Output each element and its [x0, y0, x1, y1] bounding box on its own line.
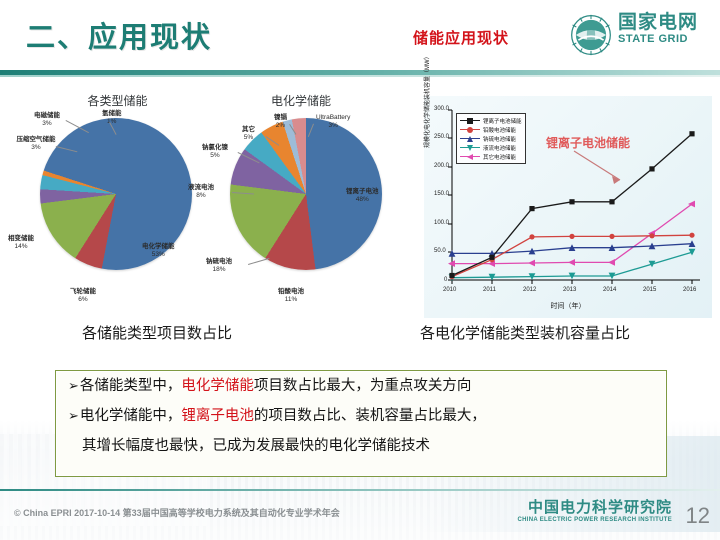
footer-divider: [0, 489, 720, 491]
pie-left-label-3: 压缩空气储能 3%: [12, 136, 60, 152]
line-chart-capacity: 规模化电化学储能装机容量（MW） 时间（年） 300.0 250.0 200.0…: [424, 96, 712, 318]
pie-right-leader-2: [248, 258, 269, 265]
legend-item-1: 铅酸电池储能: [460, 125, 522, 134]
pie-right-title: 电化学储能: [186, 92, 416, 109]
charts-region: 各类型储能 电化学储能 53% 相变储能 14% 飞轮储能 6% 压缩空气储能 …: [0, 92, 720, 322]
conclusion-item-2: 其增长幅度也最快，已成为发展最快的电化学储能技术: [56, 431, 666, 461]
bullet-icon-0: ➢: [68, 378, 79, 393]
footer-copyright: © China EPRI 2017-10-14 第33届中国高等学校电力系统及其…: [14, 506, 340, 519]
legend-swatch-triangle-down-icon: [460, 144, 480, 152]
legend-item-2: 钠硫电池储能: [460, 134, 522, 143]
header-divider-secondary: [0, 75, 720, 77]
pie-left-label-5: 氢储能 1%: [102, 110, 122, 126]
legend-swatch-triangle-up-icon: [460, 135, 480, 143]
slide-root: 二、应用现状 储能应用现状: [0, 0, 720, 540]
state-grid-logo-en: STATE GRID: [618, 33, 713, 46]
page-title: 二、应用现状: [26, 14, 212, 56]
legend-swatch-square-icon: [460, 117, 480, 125]
footer-institute-cn: 中国电力科学研究院: [518, 496, 672, 517]
pie-right-label-3: 液流电池 8%: [188, 184, 214, 200]
state-grid-logo: 国家电网 STATE GRID: [570, 12, 710, 60]
conclusion-item-1: ➢电化学储能中，锂离子电池的项目数占比、装机容量占比最大，: [56, 401, 666, 431]
pie-right-label-0: 锂离子电池 48%: [346, 188, 379, 204]
conclusion-item-0: ➢各储能类型中，电化学储能项目数占比最大，为重点攻关方向: [56, 371, 666, 401]
state-grid-globe-icon: [570, 14, 612, 56]
line-chart-legend: 锂离子电池储能 铅酸电池储能 钠硫电池储能: [456, 113, 526, 164]
bullet-icon-1: ➢: [68, 408, 79, 423]
pie-right-label-6: 镍镉 2%: [274, 114, 287, 130]
legend-item-0: 锂离子电池储能: [460, 116, 522, 125]
caption-right-chart: 各电化学储能类型装机容量占比: [420, 322, 630, 343]
pie-right-label-2: 钠硫电池 18%: [206, 258, 232, 274]
legend-item-3: 液流电池储能: [460, 143, 522, 152]
legend-swatch-circle-icon: [460, 126, 480, 134]
pie-left-label-1: 相变储能 14%: [8, 235, 34, 251]
caption-left-chart: 各储能类型项目数占比: [82, 322, 232, 343]
slide-header: 二、应用现状 储能应用现状: [0, 0, 720, 72]
line-chart-annotation: 锂离子电池储能: [546, 134, 630, 151]
pie-right-label-7: UltraBattery 3%: [316, 114, 350, 130]
pie-chart-electrochemical: 电化学储能 锂离子电池 48% 铅酸电池 11% 钠硫电池 18% 液流电池 8…: [186, 92, 416, 317]
legend-item-4: 其它电池储能: [460, 152, 522, 161]
pie-left-label-4: 电磁储能 3%: [34, 112, 60, 128]
pie-left-label-2: 飞轮储能 6%: [70, 288, 96, 304]
page-number: 12: [686, 503, 710, 529]
state-grid-logo-cn: 国家电网: [618, 12, 713, 33]
pie-left-label-0: 电化学储能 53%: [142, 243, 175, 259]
legend-swatch-triangle-left-icon: [460, 153, 480, 161]
footer-institute-logo: 中国电力科学研究院 CHINA ELECTRIC POWER RESEARCH …: [518, 496, 672, 523]
footer-institute-en: CHINA ELECTRIC POWER RESEARCH INSTITUTE: [518, 517, 672, 523]
state-grid-logo-text: 国家电网 STATE GRID: [618, 12, 713, 46]
pie-right-label-5: 其它 5%: [242, 126, 255, 142]
header-subtitle: 储能应用现状: [413, 27, 509, 48]
pie-right-label-4: 钠氯化镍 5%: [202, 144, 228, 160]
pie-right-label-1: 铅酸电池 11%: [278, 288, 304, 304]
conclusion-box: ➢各储能类型中，电化学储能项目数占比最大，为重点攻关方向 ➢电化学储能中，锂离子…: [55, 370, 667, 477]
